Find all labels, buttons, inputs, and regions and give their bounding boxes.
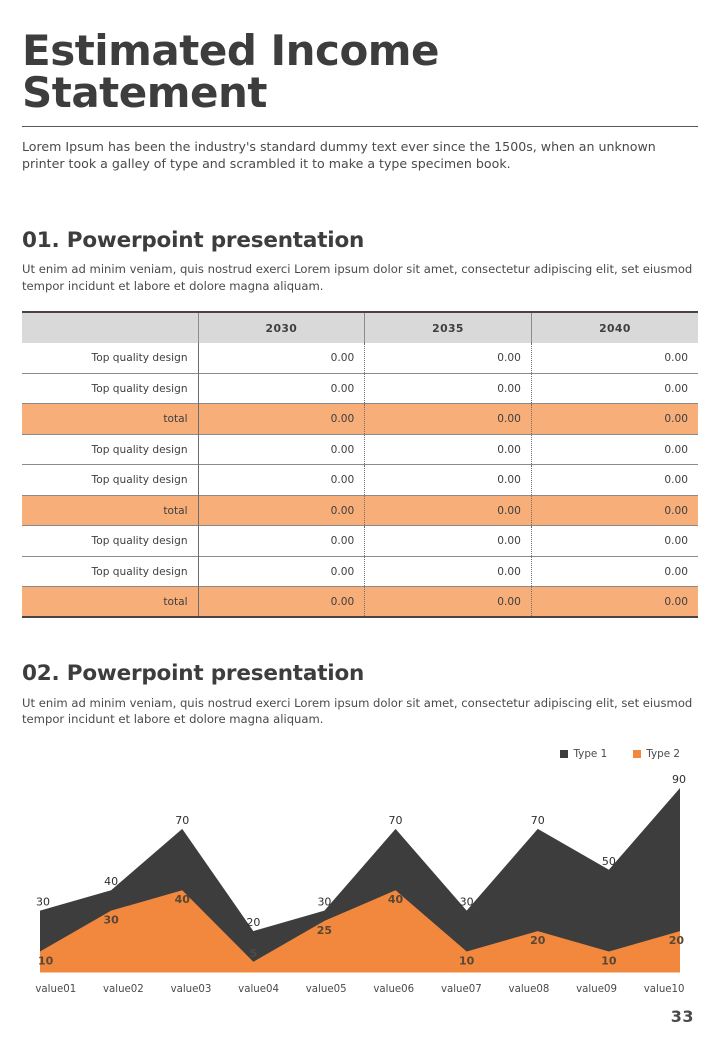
chart-data-label: 50 xyxy=(602,855,616,868)
table-header-row: 2030 2035 2040 xyxy=(22,312,698,343)
table-cell-label: Top quality design xyxy=(22,343,198,374)
table-cell-label: Top quality design xyxy=(22,556,198,587)
table-cell-value: 0.00 xyxy=(198,343,365,374)
stacked-area-chart: 304070203070307050901030405254010201020 xyxy=(22,766,698,978)
financial-table: 2030 2035 2040 Top quality design0.000.0… xyxy=(22,311,698,618)
chart-data-label: 70 xyxy=(389,814,403,827)
intro-paragraph: Lorem Ipsum has been the industry's stan… xyxy=(22,138,694,173)
section-02: 02. Powerpoint presentation Ut enim ad m… xyxy=(22,662,698,1002)
chart-data-label: 40 xyxy=(388,893,404,906)
table-cell-value: 0.00 xyxy=(531,587,698,618)
table-cell-label: Top quality design xyxy=(22,373,198,404)
table-cell-value: 0.00 xyxy=(198,495,365,526)
page-title: Estimated Income Statement xyxy=(22,0,698,114)
table-cell-value: 0.00 xyxy=(365,373,532,404)
table-row: Top quality design0.000.000.00 xyxy=(22,434,698,465)
table-col-header-2030: 2030 xyxy=(198,312,365,343)
chart-data-label: 10 xyxy=(601,954,617,967)
chart-data-label: 70 xyxy=(531,814,545,827)
table-col-header-2040: 2040 xyxy=(531,312,698,343)
chart-data-label: 30 xyxy=(36,896,50,909)
chart-data-label: 30 xyxy=(317,896,331,909)
table-cell-value: 0.00 xyxy=(531,343,698,374)
table-cell-value: 0.00 xyxy=(198,587,365,618)
table-cell-value: 0.00 xyxy=(531,373,698,404)
section-02-title: 02. Powerpoint presentation xyxy=(22,662,698,686)
chart-data-label: 10 xyxy=(459,954,475,967)
table-row: Top quality design0.000.000.00 xyxy=(22,465,698,496)
table-cell-value: 0.00 xyxy=(531,495,698,526)
section-02-body: Ut enim ad minim veniam, quis nostrud ex… xyxy=(22,695,698,728)
legend-label: Type 2 xyxy=(646,748,680,760)
chart-data-label: 10 xyxy=(38,954,54,967)
table-row: Top quality design0.000.000.00 xyxy=(22,373,698,404)
legend-item: Type 1 xyxy=(560,748,607,760)
x-axis-label: value03 xyxy=(157,978,225,1002)
table-row: Top quality design0.000.000.00 xyxy=(22,343,698,374)
table-cell-label: Top quality design xyxy=(22,465,198,496)
table-cell-value: 0.00 xyxy=(365,556,532,587)
chart-area: 304070203070307050901030405254010201020 xyxy=(22,766,698,978)
section-01-body: Ut enim ad minim veniam, quis nostrud ex… xyxy=(22,261,698,294)
table-header: 2030 2035 2040 xyxy=(22,312,698,343)
table-cell-value: 0.00 xyxy=(531,434,698,465)
chart-data-label: 30 xyxy=(460,896,474,909)
table-cell-value: 0.00 xyxy=(198,434,365,465)
table-row-total: total0.000.000.00 xyxy=(22,587,698,618)
table-cell-value: 0.00 xyxy=(198,556,365,587)
x-axis-label: value01 xyxy=(22,978,90,1002)
table-cell-value: 0.00 xyxy=(365,495,532,526)
table-col-header-blank xyxy=(22,312,198,343)
table-cell-value: 0.00 xyxy=(531,526,698,557)
page-number: 33 xyxy=(671,1007,694,1026)
table-cell-value: 0.00 xyxy=(365,587,532,618)
table-cell-value: 0.00 xyxy=(365,404,532,435)
x-axis-label: value08 xyxy=(495,978,563,1002)
table-row-total: total0.000.000.00 xyxy=(22,404,698,435)
chart-data-label: 30 xyxy=(103,914,119,927)
table-cell-label: Top quality design xyxy=(22,526,198,557)
chart-data-label: 40 xyxy=(175,893,191,906)
chart-legend: Type 1Type 2 xyxy=(22,748,698,760)
section-01: 01. Powerpoint presentation Ut enim ad m… xyxy=(22,229,698,619)
table-cell-value: 0.00 xyxy=(198,465,365,496)
table-row-total: total0.000.000.00 xyxy=(22,495,698,526)
chart-x-axis: value01value02value03value04value05value… xyxy=(22,978,698,1002)
chart-data-label: 20 xyxy=(669,934,685,947)
x-axis-label: value07 xyxy=(428,978,496,1002)
chart-data-label: 20 xyxy=(530,934,546,947)
table-cell-value: 0.00 xyxy=(531,556,698,587)
table-cell-value: 0.00 xyxy=(365,465,532,496)
legend-item: Type 2 xyxy=(633,748,680,760)
table-cell-label: total xyxy=(22,587,198,618)
slide-page: Estimated Income Statement Lorem Ipsum h… xyxy=(0,0,720,1040)
table-cell-value: 0.00 xyxy=(198,373,365,404)
table-cell-value: 0.00 xyxy=(531,465,698,496)
x-axis-label: value10 xyxy=(630,978,698,1002)
table-cell-label: Top quality design xyxy=(22,434,198,465)
title-divider xyxy=(22,126,698,127)
table-cell-label: total xyxy=(22,404,198,435)
table-col-header-2035: 2035 xyxy=(365,312,532,343)
legend-swatch-icon xyxy=(633,750,641,758)
x-axis-label: value02 xyxy=(90,978,158,1002)
x-axis-label: value09 xyxy=(563,978,631,1002)
table-cell-value: 0.00 xyxy=(365,343,532,374)
table-cell-value: 0.00 xyxy=(198,404,365,435)
table-row: Top quality design0.000.000.00 xyxy=(22,526,698,557)
chart-data-label: 5 xyxy=(250,947,258,960)
chart-data-label: 90 xyxy=(672,773,686,786)
chart-data-label: 40 xyxy=(104,875,118,888)
table-cell-label: total xyxy=(22,495,198,526)
table-cell-value: 0.00 xyxy=(198,526,365,557)
table-cell-value: 0.00 xyxy=(365,526,532,557)
table-row: Top quality design0.000.000.00 xyxy=(22,556,698,587)
section-01-title: 01. Powerpoint presentation xyxy=(22,229,698,253)
financial-table-wrapper: 2030 2035 2040 Top quality design0.000.0… xyxy=(22,311,698,618)
table-body: Top quality design0.000.000.00Top qualit… xyxy=(22,343,698,618)
legend-label: Type 1 xyxy=(573,748,607,760)
x-axis-label: value05 xyxy=(292,978,360,1002)
x-axis-label: value04 xyxy=(225,978,293,1002)
legend-swatch-icon xyxy=(560,750,568,758)
x-axis-label: value06 xyxy=(360,978,428,1002)
chart-data-label: 20 xyxy=(246,916,260,929)
table-cell-value: 0.00 xyxy=(365,434,532,465)
chart-data-label: 25 xyxy=(317,924,332,937)
table-cell-value: 0.00 xyxy=(531,404,698,435)
chart-data-label: 70 xyxy=(175,814,189,827)
